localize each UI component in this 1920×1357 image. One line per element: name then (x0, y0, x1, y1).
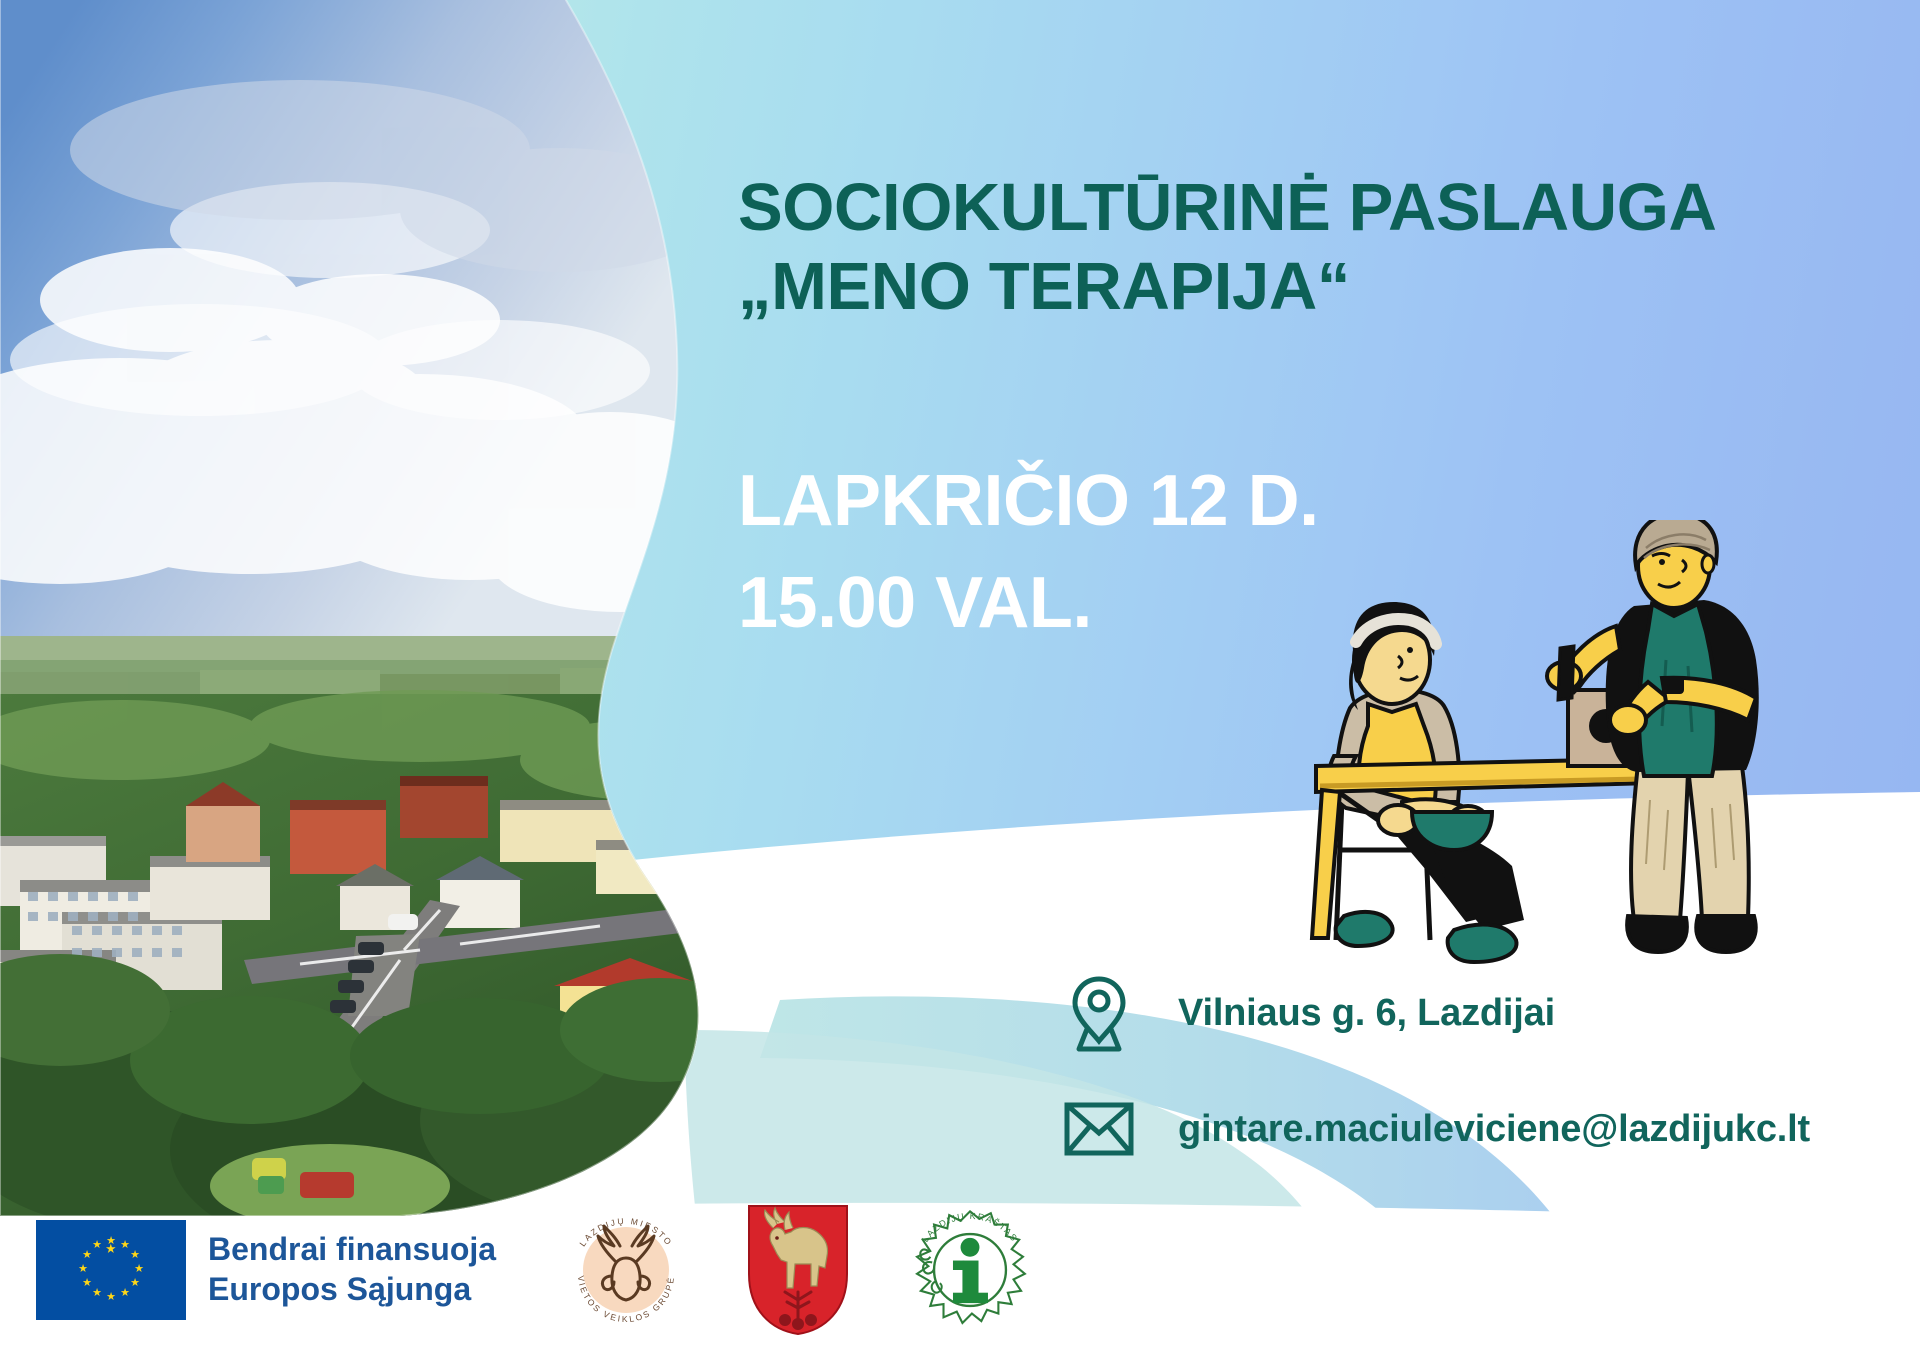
wristwatch-icon (1662, 676, 1684, 694)
lazdijai-aerial-photo (0, 0, 790, 1260)
poster-canvas: SOCIOKULTŪRINĖ PASLAUGA „MENO TERAPIJA“ … (0, 0, 1920, 1357)
eu-caption-line-1: Bendrai finansuoja (208, 1230, 496, 1269)
title-line-1: SOCIOKULTŪRINĖ PASLAUGA (738, 168, 1858, 247)
boot-right (1696, 916, 1755, 952)
svg-text:★: ★ (134, 1263, 144, 1275)
svg-text:★: ★ (130, 1249, 140, 1261)
svg-text:★: ★ (120, 1239, 130, 1251)
address-text: Vilniaus g. 6, Lazdijai (1178, 992, 1555, 1035)
svg-text:★: ★ (82, 1277, 92, 1289)
poster-title: SOCIOKULTŪRINĖ PASLAUGA „MENO TERAPIJA“ (738, 168, 1858, 326)
svg-text:★: ★ (130, 1277, 140, 1289)
svg-text:★: ★ (106, 1291, 116, 1303)
eu-funding-logo: ★ ★ ★ ★ ★ ★ ★ ★ ★ ★ ★ ★ Bendrai finansuo… (36, 1220, 496, 1320)
eu-caption: Bendrai finansuoja Europos Sąjunga (208, 1230, 496, 1308)
svg-text:★: ★ (120, 1287, 130, 1299)
lazdijai-vvg-logo: LAZDIJŲ MIESTO VIETOS VEIKLOS GRUPĖ (556, 1200, 696, 1340)
envelope-icon (1062, 1089, 1136, 1169)
svg-text:★: ★ (78, 1263, 88, 1275)
contact-row-email[interactable]: gintare.maciuleviciene@lazdijukc.lt (1062, 1071, 1810, 1187)
location-pin-icon (1062, 973, 1136, 1053)
svg-text:★: ★ (92, 1239, 102, 1251)
svg-text:★: ★ (92, 1287, 102, 1299)
boot-left (1627, 916, 1687, 952)
info-letter-icon (953, 1237, 988, 1302)
art-therapy-workshop-illustration (1306, 520, 1806, 970)
svg-text:★: ★ (82, 1249, 92, 1261)
shoe-left (1336, 912, 1393, 946)
lazdijai-krastas-info-logo: LAZDIJŲ KRAŠTAS (900, 1200, 1040, 1340)
contact-list: Vilniaus g. 6, Lazdijai gintare.maciulev… (1062, 955, 1810, 1187)
eu-caption-line-2: Europos Sąjunga (208, 1270, 496, 1309)
footer-logo-bar: ★ ★ ★ ★ ★ ★ ★ ★ ★ ★ ★ ★ Bendrai finansuo… (0, 1182, 1920, 1357)
contact-row-address[interactable]: Vilniaus g. 6, Lazdijai (1062, 955, 1810, 1071)
svg-text:★: ★ (106, 1235, 116, 1247)
eu-flag-icon: ★ ★ ★ ★ ★ ★ ★ ★ ★ ★ ★ ★ (36, 1220, 186, 1320)
lazdijai-coat-of-arms (738, 1200, 858, 1340)
hand-on-box (1610, 705, 1646, 735)
title-line-2: „MENO TERAPIJA“ (738, 247, 1858, 326)
email-text: gintare.maciuleviciene@lazdijukc.lt (1178, 1108, 1810, 1151)
chisel-icon (1558, 646, 1574, 700)
